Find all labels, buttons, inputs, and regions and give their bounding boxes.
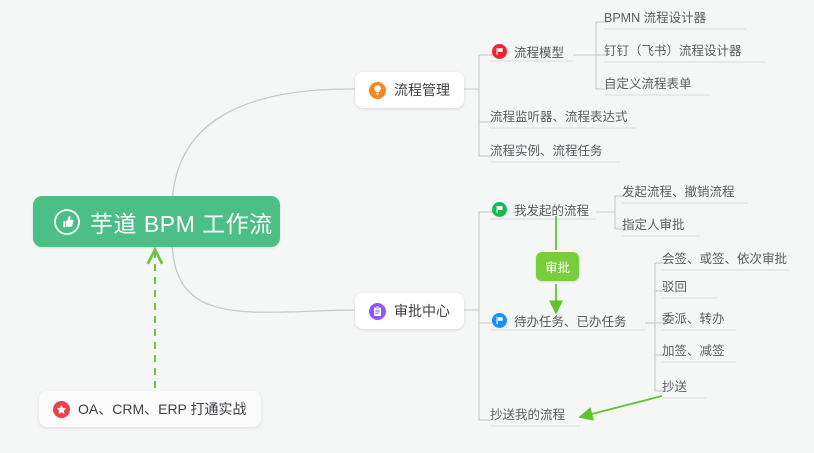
topic-process-model[interactable]: 流程模型 <box>492 40 564 62</box>
topic-my-started-processes[interactable]: 我发起的流程 <box>492 198 589 220</box>
leaf-add-remove-signer[interactable]: 加签、减签 <box>662 340 725 362</box>
branch-label: 审批中心 <box>394 301 450 321</box>
chip-approval[interactable]: 审批 <box>536 252 579 281</box>
leaf-start-cancel-process[interactable]: 发起流程、撤销流程 <box>622 181 735 203</box>
leaf-cc-to-me-processes[interactable]: 抄送我的流程 <box>490 404 565 426</box>
leaf-cc[interactable]: 抄送 <box>662 376 687 398</box>
leaf-custom-process-form[interactable]: 自定义流程表单 <box>604 73 692 95</box>
flag-red-icon <box>492 44 507 59</box>
leaf-assignee-approval[interactable]: 指定人审批 <box>622 214 685 236</box>
topic-todo-done-tasks[interactable]: 待办任务、已办任务 <box>492 309 627 331</box>
topic-label: 流程模型 <box>514 42 564 61</box>
clipboard-icon <box>369 303 386 320</box>
topic-label: 待办任务、已办任务 <box>514 311 627 330</box>
star-icon <box>53 401 70 418</box>
lightbulb-icon <box>369 82 386 99</box>
root-label: 芋道 BPM 工作流 <box>90 205 273 239</box>
topic-label: 我发起的流程 <box>514 200 589 219</box>
flag-blue-icon <box>492 313 507 328</box>
leaf-dingtalk-feishu-designer[interactable]: 钉钉（飞书）流程设计器 <box>604 40 742 62</box>
thumbs-up-icon <box>54 209 80 235</box>
leaf-countersign-orsign-sequential[interactable]: 会签、或签、依次审批 <box>662 248 787 270</box>
branch-process-management[interactable]: 流程管理 <box>355 72 464 108</box>
note-label: OA、CRM、ERP 打通实战 <box>78 399 247 419</box>
leaf-delegate-transfer[interactable]: 委派、转办 <box>662 308 725 330</box>
flag-green-icon <box>492 202 507 217</box>
leaf-reject[interactable]: 驳回 <box>662 276 687 298</box>
branch-label: 流程管理 <box>394 80 450 100</box>
leaf-process-instance-task[interactable]: 流程实例、流程任务 <box>490 140 603 162</box>
leaf-process-listener-expression[interactable]: 流程监听器、流程表达式 <box>490 106 628 128</box>
leaf-bpmn-designer[interactable]: BPMN 流程设计器 <box>604 7 706 29</box>
branch-approval-center[interactable]: 审批中心 <box>355 293 464 329</box>
note-node-integration[interactable]: OA、CRM、ERP 打通实战 <box>39 391 261 427</box>
root-node[interactable]: 芋道 BPM 工作流 <box>33 196 280 247</box>
mindmap-canvas: 芋道 BPM 工作流 流程管理 审批中心 <box>0 0 814 453</box>
